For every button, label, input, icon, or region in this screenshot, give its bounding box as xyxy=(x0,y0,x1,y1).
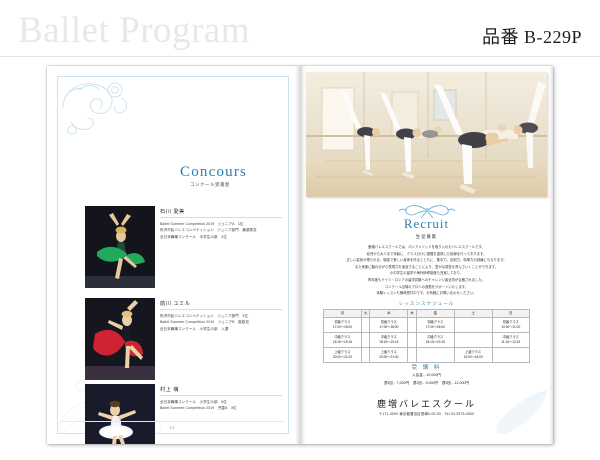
feather-ornament-icon xyxy=(489,388,549,436)
entry-name: 前川 ユミル xyxy=(160,300,190,307)
recruit-body-text: 鹿増バレエスクールでは、ロシアメソッドを取り入れたバレエスクールです。幼児から大… xyxy=(326,244,527,297)
right-page: Recruit 生徒募集 鹿増バレエスクールでは、ロシアメソッドを取り入れたバレ… xyxy=(300,66,553,444)
page-number: 14 xyxy=(169,425,175,430)
schedule-cell: 中級クラス11:15～12:15 xyxy=(492,333,529,348)
schedule-cell: 中級クラス18:15～19:15 xyxy=(324,333,362,348)
entry-award-line: 全日本舞踊コンクール 小学生の部 入選 xyxy=(160,326,286,332)
recruit-body-line: 正しい姿勢が得られる、健康で美しい身体を作るとともに、集中力、忍耐力、精神力の訓… xyxy=(326,257,527,264)
page-edge-shadow xyxy=(549,66,553,444)
schedule-cell-time: 18:15～19:15 xyxy=(324,340,361,345)
recruit-body-line: コンクール出場のプロへの道筋をサポートいたします。 xyxy=(326,284,527,291)
schedule-cell: 初級クラス17:00～18:00 xyxy=(324,318,362,333)
schedule-cell xyxy=(361,318,370,333)
schedule-cell: 初級クラス10:00～11:00 xyxy=(492,318,529,333)
schedule-cell: 上級クラス20:00～21:00 xyxy=(324,348,362,363)
fee-lines: 入会金…10,000円週1回…7,000円 週2回…9,000円 週3回…12,… xyxy=(300,372,553,387)
schedule-cell: 中級クラス18:15～19:15 xyxy=(416,333,454,348)
schedule-cell: 上級クラス20:00～21:00 xyxy=(370,348,408,363)
entry-photo xyxy=(85,206,155,288)
schedule-cell xyxy=(416,348,454,363)
brand-title: Ballet Program xyxy=(18,12,250,49)
schedule-day-header: 火 xyxy=(361,310,370,318)
entry-name: 石川 愛美 xyxy=(160,208,185,215)
schedule-cell-time: 17:00～18:00 xyxy=(417,325,454,330)
schedule-header-row: 月火水木金土日 xyxy=(324,310,530,318)
entry-divider xyxy=(160,309,282,310)
schedule-cell: 中級クラス18:15～19:15 xyxy=(370,333,408,348)
recruit-subtitle: 生徒募集 xyxy=(300,234,553,240)
schedule-cell-time: 15:00～16:00 xyxy=(455,355,492,360)
schedule-row: 中級クラス18:15～19:15中級クラス18:15～19:15中級クラス18:… xyxy=(324,333,530,348)
book-spread: Concours コンクール受賞歴 石川 愛美Ballet Summer Com… xyxy=(47,66,553,444)
schedule-day-header: 土 xyxy=(454,310,492,318)
schedule-row: 上級クラス20:00～21:00上級クラス20:00～21:00上級クラス15:… xyxy=(324,348,530,363)
recruit-body-line: 鹿増バレエスクールでは、ロシアメソッドを取り入れたバレエスクールです。 xyxy=(326,244,527,251)
schedule-day-header: 月 xyxy=(324,310,362,318)
schedule-cell xyxy=(361,348,370,363)
schedule-cell xyxy=(408,333,417,348)
product-code: 品番 B-229P xyxy=(482,23,582,49)
schedule-day-header: 金 xyxy=(416,310,454,318)
fee-line: 週1回…7,000円 週2回…9,000円 週3回…12,000円 xyxy=(300,380,553,388)
fee-line: 入会金…10,000円 xyxy=(300,372,553,380)
recruit-body-line: また音楽に触れながら表現力を追及することにより、豊かな感性を育んでいくことができ… xyxy=(326,264,527,271)
schedule-cell-time: 11:15～12:15 xyxy=(493,340,529,345)
recruit-title: Recruit xyxy=(300,216,553,232)
recruit-body-line: 小中学生の留学や海外研修制度も充実しており、 xyxy=(326,270,527,277)
schedule-day-header: 日 xyxy=(492,310,529,318)
page-header: Ballet Program 品番 B-229P xyxy=(0,0,600,58)
recruit-body-line: 昨年度もドイツ・ロシアの留学試験へのチャレンジ者全員が合格されました。 xyxy=(326,277,527,284)
schedule-cell-time: 20:00～21:00 xyxy=(370,355,407,360)
schedule-cell-time: 20:00～21:00 xyxy=(324,355,361,360)
schedule-cell: 初級クラス17:00～18:00 xyxy=(416,318,454,333)
schedule-cell: 上級クラス15:00～16:00 xyxy=(454,348,492,363)
schedule-cell xyxy=(361,333,370,348)
entry-award-line: 全日本舞踊コンクール 中学生の部 2位 xyxy=(160,234,286,240)
schedule-cell-time: 18:15～19:15 xyxy=(417,340,454,345)
entry-name: 村上 萌 xyxy=(160,386,179,393)
schedule-body: 初級クラス17:00～18:00初級クラス17:00～18:00初級クラス17:… xyxy=(324,318,530,363)
schedule-label: レッスンスケジュール xyxy=(300,301,553,307)
recruit-body-line: 体験レッスンも随時受付中です。お気軽にお問い合わせください。 xyxy=(326,290,527,297)
schedule-cell-time: 17:00～18:00 xyxy=(324,325,361,330)
concours-subtitle: コンクール受賞歴 xyxy=(190,182,230,188)
entry-photo xyxy=(85,298,155,380)
concours-title: Concours xyxy=(180,164,247,181)
header-divider xyxy=(0,56,600,57)
schedule-cell xyxy=(454,318,492,333)
schedule-day-header: 水 xyxy=(370,310,408,318)
schedule-cell-time: 17:00～18:00 xyxy=(370,325,407,330)
swirl-ornament-icon xyxy=(59,78,131,142)
lesson-schedule-table: 月火水木金土日 初級クラス17:00～18:00初級クラス17:00～18:00… xyxy=(323,309,530,363)
entry-photo xyxy=(85,384,155,444)
entry-award-lines: 全日本舞踊コンクール 小学生の部 5位Ballet Summer Competi… xyxy=(160,399,286,412)
entry-award-lines: Ballet Summer Competition 2019 ジュニアA 1位所… xyxy=(160,221,286,240)
entry-divider xyxy=(160,217,282,218)
entry-divider xyxy=(160,395,282,396)
schedule-cell xyxy=(454,333,492,348)
left-page-bottom-divider xyxy=(61,421,285,422)
schedule-cell xyxy=(408,318,417,333)
left-page: Concours コンクール受賞歴 石川 愛美Ballet Summer Com… xyxy=(47,66,300,444)
entry-award-line: Ballet Summer Competition 2019 児童A 3位 xyxy=(160,405,286,411)
entry-award-lines: 所沢市民バレエコンペティション ジュニア部門 3位Ballet Summer C… xyxy=(160,313,286,332)
schedule-cell-time: 18:15～19:15 xyxy=(370,340,407,345)
schedule-cell: 初級クラス17:00～18:00 xyxy=(370,318,408,333)
schedule-day-header: 木 xyxy=(408,310,417,318)
schedule-cell-time: 10:00～11:00 xyxy=(493,325,529,330)
schedule-cell xyxy=(492,348,529,363)
schedule-cell xyxy=(408,348,417,363)
fee-title: 受 講 料 xyxy=(300,363,553,371)
program-page-preview: Ballet Program 品番 B-229P xyxy=(0,0,600,460)
recruit-body-line: 幼児から大人まで年齢に、クラス分けに基礎を重視した指導を行っております。 xyxy=(326,251,527,258)
studio-photo xyxy=(306,72,547,197)
schedule-row: 初級クラス17:00～18:00初級クラス17:00～18:00初級クラス17:… xyxy=(324,318,530,333)
